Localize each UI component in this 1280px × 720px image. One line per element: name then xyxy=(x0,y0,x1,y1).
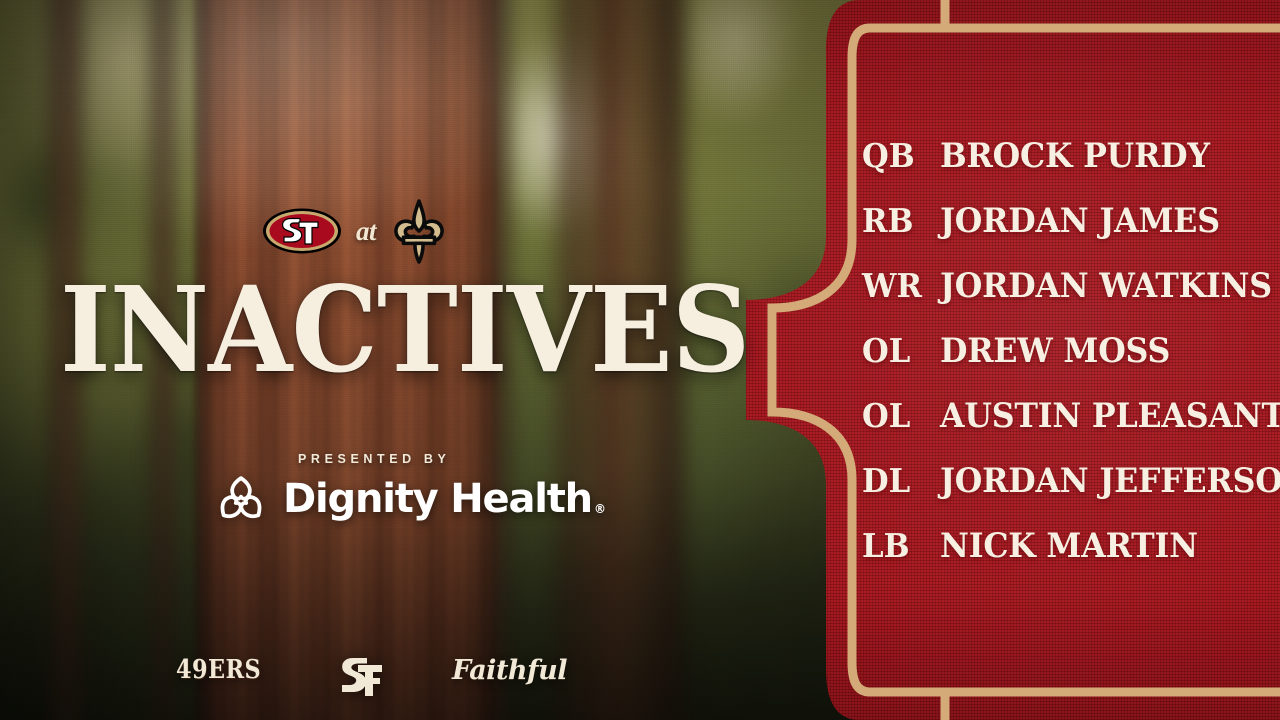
roster-row: DL JORDAN JEFFERSON xyxy=(862,461,1262,526)
player-name: DREW MOSS xyxy=(940,331,1170,371)
matchup-connector: at xyxy=(356,216,376,247)
player-position: RB xyxy=(862,201,935,240)
dignity-health-trefoil-icon xyxy=(212,470,270,528)
roster-row: WR JORDAN WATKINS xyxy=(862,266,1262,331)
roster-row: OL DREW MOSS xyxy=(862,331,1262,396)
player-position: OL xyxy=(862,396,935,435)
player-position: WR xyxy=(862,266,935,305)
sf-monogram-glyph xyxy=(338,655,384,699)
left-content: at INACTIVES PRESENTED BY xyxy=(0,0,700,720)
player-name: NICK MARTIN xyxy=(940,526,1198,566)
registered-trademark-icon: ® xyxy=(594,502,605,516)
footer-logo-strip: 49ERS Faithful xyxy=(0,655,700,715)
faithful-script-text: Faithful xyxy=(452,655,567,686)
sponsor-name-text: Dignity Health xyxy=(283,476,592,522)
player-position: DL xyxy=(862,461,935,500)
sponsor-name: Dignity Health® xyxy=(283,476,603,522)
player-name: BROCK PURDY xyxy=(940,136,1210,176)
player-name: JORDAN JEFFERSON xyxy=(940,461,1280,501)
roster-row: RB JORDAN JAMES xyxy=(862,201,1262,266)
player-name: AUSTIN PLEASANTS xyxy=(940,396,1280,436)
saints-fleur-de-lis-icon xyxy=(388,198,450,264)
page-title: INACTIVES xyxy=(60,276,630,385)
faithful-script-icon: Faithful xyxy=(452,655,567,686)
49ers-wordmark-text: 49ERS xyxy=(176,655,261,685)
roster-row: QB BROCK PURDY xyxy=(862,136,1262,201)
roster-row: LB NICK MARTIN xyxy=(862,526,1262,591)
player-name: JORDAN WATKINS xyxy=(940,266,1272,306)
player-position: QB xyxy=(862,136,935,175)
matchup-row: at xyxy=(262,198,450,264)
49ers-wordmark-icon: 49ERS xyxy=(176,655,275,685)
sf-monogram-icon xyxy=(338,655,384,699)
49ers-oval-logo-icon xyxy=(262,205,342,257)
sponsor-lockup: Dignity Health® xyxy=(212,470,603,528)
player-position: LB xyxy=(862,526,935,565)
player-position: OL xyxy=(862,331,935,370)
player-name: JORDAN JAMES xyxy=(940,201,1220,241)
inactives-roster-list: QB BROCK PURDY RB JORDAN JAMES WR JORDAN… xyxy=(862,136,1262,591)
inactives-graphic: QB BROCK PURDY RB JORDAN JAMES WR JORDAN… xyxy=(0,0,1280,720)
presented-by-label: PRESENTED BY xyxy=(298,452,450,466)
roster-row: OL AUSTIN PLEASANTS xyxy=(862,396,1262,461)
